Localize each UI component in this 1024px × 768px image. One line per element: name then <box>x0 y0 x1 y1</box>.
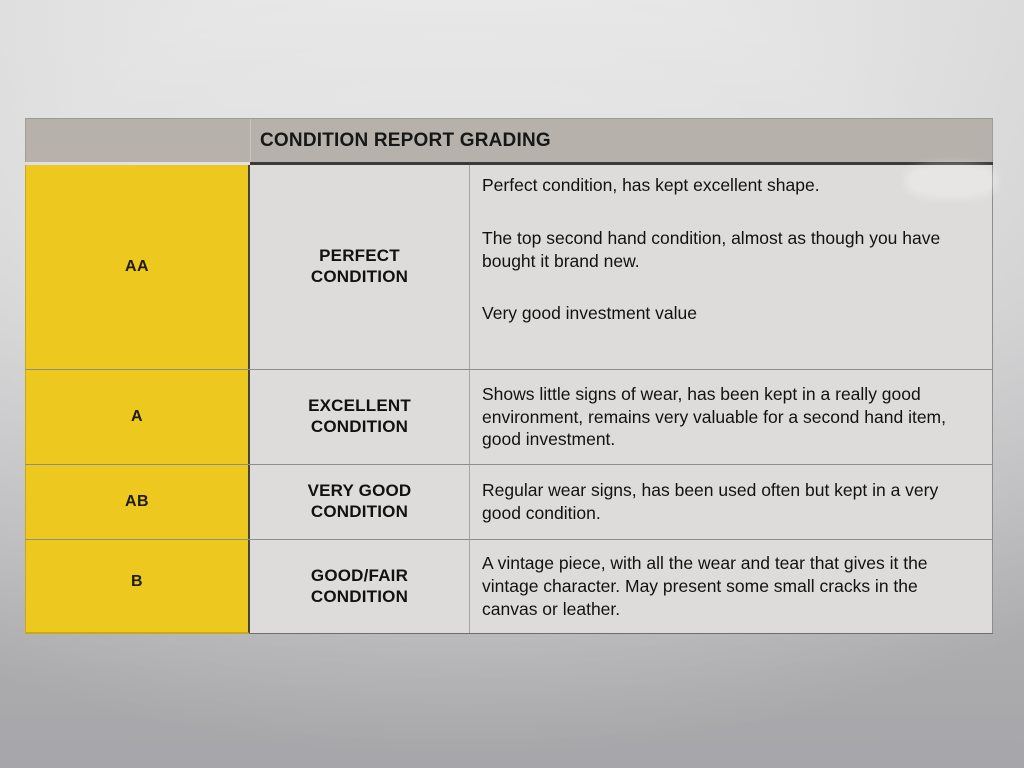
table-row: AA PERFECT CONDITION Perfect condition, … <box>25 165 993 370</box>
condition-label-line1: VERY GOOD <box>308 481 412 500</box>
table-header-band: CONDITION REPORT GRADING <box>25 118 993 162</box>
description-cell-b: A vintage piece, with all the wear and t… <box>470 540 993 633</box>
condition-label-cell-a: EXCELLENT CONDITION <box>250 370 470 464</box>
grade-cell-ab: AB <box>25 465 250 539</box>
table-body: AA PERFECT CONDITION Perfect condition, … <box>25 165 993 634</box>
grade-cell-a: A <box>25 370 250 464</box>
condition-label-line1: GOOD/FAIR <box>311 566 408 585</box>
paper-photo-backdrop: CONDITION REPORT GRADING AA PERFECT COND… <box>0 0 1024 768</box>
description-paragraph: Very good investment value <box>482 302 978 325</box>
description-cell-aa: Perfect condition, has kept excellent sh… <box>470 165 993 369</box>
condition-label-cell-ab: VERY GOOD CONDITION <box>250 465 470 539</box>
description-paragraph: Regular wear signs, has been used often … <box>482 479 978 525</box>
description-cell-ab: Regular wear signs, has been used often … <box>470 465 993 539</box>
condition-label-line2: CONDITION <box>311 502 408 521</box>
table-row: AB VERY GOOD CONDITION Regular wear sign… <box>25 465 993 540</box>
description-paragraph: The top second hand condition, almost as… <box>482 227 978 273</box>
table-row: A EXCELLENT CONDITION Shows little signs… <box>25 370 993 465</box>
condition-label-cell-b: GOOD/FAIR CONDITION <box>250 540 470 633</box>
table-row: B GOOD/FAIR CONDITION A vintage piece, w… <box>25 540 993 634</box>
table-title: CONDITION REPORT GRADING <box>251 119 992 162</box>
condition-label-cell-aa: PERFECT CONDITION <box>250 165 470 369</box>
table-header-spacer <box>26 119 251 162</box>
condition-label-line1: PERFECT <box>319 246 400 265</box>
description-cell-a: Shows little signs of wear, has been kep… <box>470 370 993 464</box>
condition-label-line2: CONDITION <box>311 267 408 286</box>
grade-cell-aa: AA <box>25 165 250 369</box>
condition-label-line2: CONDITION <box>311 417 408 436</box>
grade-cell-b: B <box>25 540 250 634</box>
description-paragraph: A vintage piece, with all the wear and t… <box>482 552 978 620</box>
condition-label-line2: CONDITION <box>311 587 408 606</box>
description-paragraph: Perfect condition, has kept excellent sh… <box>482 174 978 197</box>
description-paragraph: Shows little signs of wear, has been kep… <box>482 383 978 451</box>
condition-label-line1: EXCELLENT <box>308 396 411 415</box>
condition-report-grading-table: CONDITION REPORT GRADING AA PERFECT COND… <box>25 118 993 634</box>
